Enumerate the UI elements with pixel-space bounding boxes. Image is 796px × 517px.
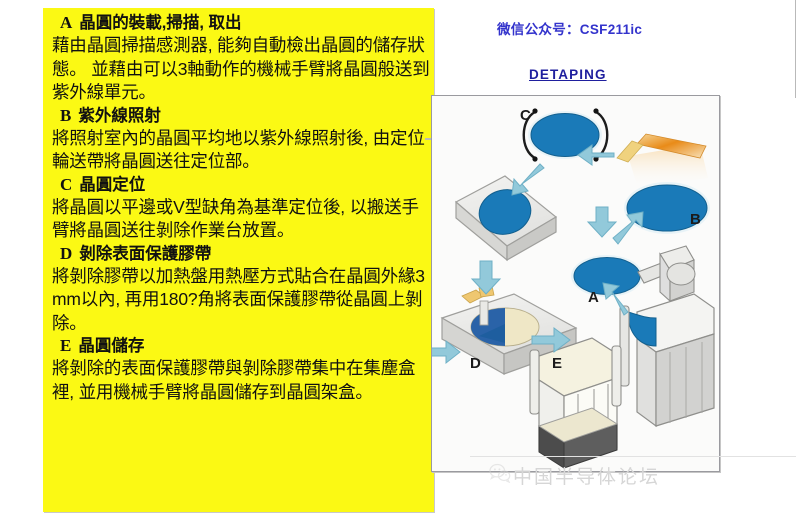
step-c-title: 晶圓定位 <box>79 176 145 194</box>
station-e-wafer-cassette <box>530 338 621 468</box>
process-step-a: A晶圓的裝載,掃描, 取出 藉由晶圓掃描感測器, 能夠自動檢出晶圓的儲存狀態。 … <box>52 12 432 105</box>
step-c-letter: C <box>60 175 79 194</box>
process-flow-diagram: C B A D E <box>431 95 720 472</box>
step-b-letter: B <box>60 106 78 125</box>
wechat-account-label: 微信公众号：CSF211ic <box>497 18 642 38</box>
heater-head-post <box>480 301 488 325</box>
step-d-body: 將剝除膠帶以加熱盤用熱壓方式貼合在晶圓外緣3mm以內, 再用180?角將表面保護… <box>52 265 432 336</box>
cassette-e-handle-right <box>612 346 621 406</box>
step-c-body: 將晶圓以平邊或V型缺角為基準定位後, 以搬送手臂將晶圓送往剝除作業台放置。 <box>52 196 432 243</box>
flow-arrow-into-a-top <box>588 207 616 237</box>
step-d-letter: D <box>60 244 79 263</box>
step-e-letter: E <box>60 336 78 355</box>
process-step-c: C晶圓定位 將晶圓以平邊或V型缺角為基準定位後, 以搬送手臂將晶圓送往剝除作業台… <box>52 174 432 243</box>
diagram-label-a: A <box>588 289 599 306</box>
station-load-plate <box>456 176 556 260</box>
diagram-label-c: C <box>520 107 531 124</box>
step-e-body: 將剝除的表面保護膠帶與剝除膠帶集中在集塵盒裡, 並用機械手臂將晶圓儲存到晶圓架盒… <box>52 357 432 404</box>
station-a-cassette <box>620 294 714 426</box>
cassette-right-side <box>637 338 656 426</box>
diagram-label-d: D <box>470 355 481 372</box>
step-a-heading: A晶圓的裝載,掃描, 取出 <box>60 12 432 34</box>
step-e-heading: E晶圓儲存 <box>60 335 432 357</box>
forum-watermark-text: 中国半导体论坛 <box>513 462 660 489</box>
step-a-title: 晶圓的裝載,掃描, 取出 <box>79 14 241 32</box>
process-step-b: B紫外線照射 將照射室內的晶圓平均地以紫外線照射後, 由定位輪送帶將晶圓送往定位… <box>52 105 432 174</box>
step-c-heading: C晶圓定位 <box>60 174 432 196</box>
step-b-heading: B紫外線照射 <box>60 105 432 127</box>
step-d-title: 剝除表面保護膠帶 <box>79 245 211 263</box>
flow-arrow-plate-to-d <box>472 261 500 294</box>
robot-joint <box>667 263 695 285</box>
process-description-panel: A晶圓的裝載,掃描, 取出 藉由晶圓掃描感測器, 能夠自動檢出晶圓的儲存狀態。 … <box>43 8 434 512</box>
process-step-e: E晶圓儲存 將剝除的表面保護膠帶與剝除膠帶集中在集塵盒裡, 並用機械手臂將晶圓儲… <box>52 335 432 404</box>
flow-arrow-a-to-b <box>613 212 643 244</box>
gripper-dot-tr <box>593 108 598 113</box>
slide-canvas: A晶圓的裝載,掃描, 取出 藉由晶圓掃描感測器, 能夠自動檢出晶圓的儲存狀態。 … <box>0 0 796 517</box>
process-flow-illustration: C B A D E <box>432 96 717 469</box>
step-b-title: 紫外線照射 <box>78 107 161 125</box>
diagram-label-e: E <box>552 355 562 372</box>
process-step-list: A晶圓的裝載,掃描, 取出 藉由晶圓掃描感測器, 能夠自動檢出晶圓的儲存狀態。 … <box>52 12 432 404</box>
process-title: DETAPING <box>529 67 607 82</box>
diagram-label-b: B <box>690 211 701 228</box>
wechat-icon <box>489 463 511 483</box>
process-step-d: D剝除表面保護膠帶 將剝除膠帶以加熱盤用熱壓方式貼合在晶圓外緣3mm以內, 再用… <box>52 243 432 336</box>
cassette-e-handle-left <box>530 350 539 414</box>
step-d-heading: D剝除表面保護膠帶 <box>60 243 432 265</box>
gripper-dot-bl <box>532 156 537 161</box>
gripper-dot-tl <box>532 108 537 113</box>
step-a-letter: A <box>60 13 79 32</box>
step-a-body: 藉由晶圓掃描感測器, 能夠自動檢出晶圓的儲存狀態。 並藉由可以3軸動作的機械手臂… <box>52 34 432 105</box>
footer-divider <box>470 456 796 457</box>
step-b-body: 將照射室內的晶圓平均地以紫外線照射後, 由定位輪送帶將晶圓送往定位部。 <box>52 127 432 174</box>
flow-arrow-c-to-plate <box>512 164 544 195</box>
step-e-title: 晶圓儲存 <box>78 337 144 355</box>
